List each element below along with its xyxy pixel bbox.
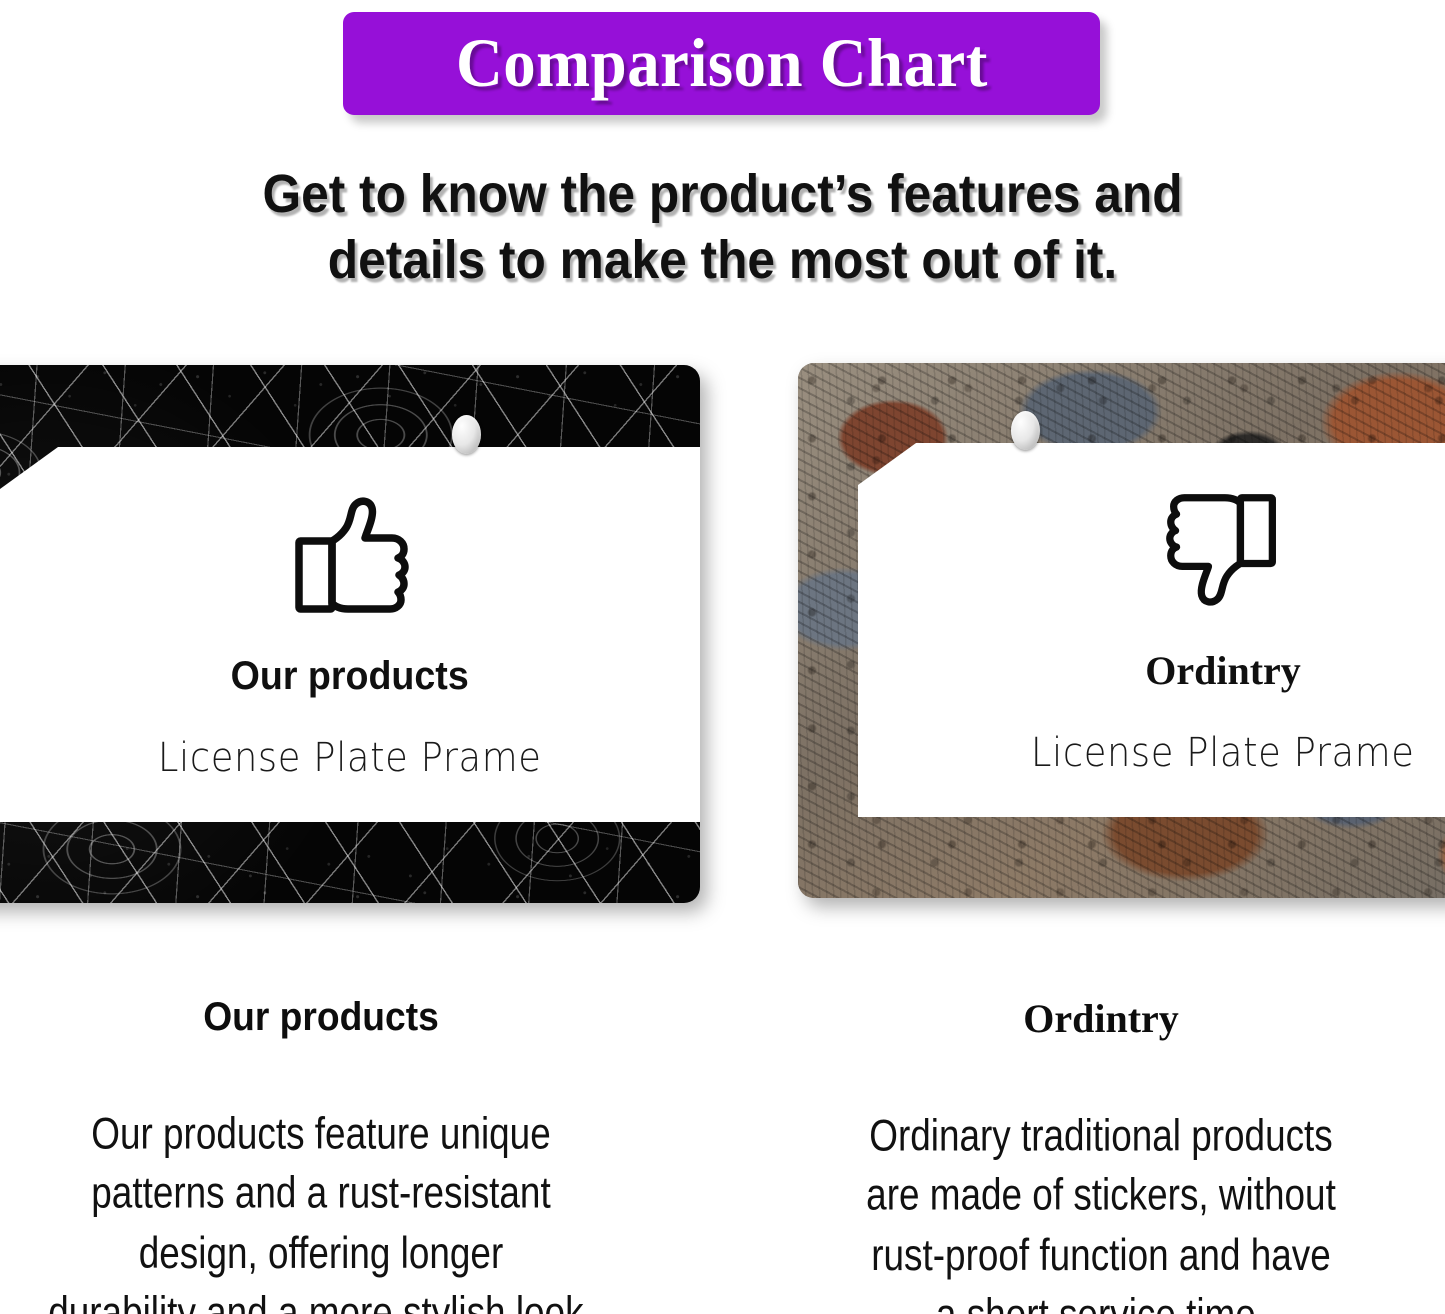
subtitle: Get to know the product’s features and d… xyxy=(58,162,1387,294)
frame-subheading-ordinary: License Plate Prame xyxy=(1031,729,1415,776)
comparison-chart-page: Comparison Chart Get to know the product… xyxy=(0,0,1445,1314)
body-line: rust-proof function and have xyxy=(776,1226,1426,1286)
body-line: are made of stickers, without xyxy=(776,1166,1426,1226)
title-banner: Comparison Chart xyxy=(343,12,1100,115)
thumbs-down-icon xyxy=(1163,490,1283,613)
plate-window-ordinary: Ordintry License Plate Prame xyxy=(858,443,1445,817)
license-plate-frame-ours: Our products License Plate Prame xyxy=(0,365,700,903)
ordinary-product-frame-image: Ordintry License Plate Prame xyxy=(798,363,1445,898)
mounting-hole-ours xyxy=(452,415,481,454)
body-line: patterns and a rust-resistant xyxy=(0,1164,646,1224)
frame-subheading-ours: License Plate Prame xyxy=(158,733,542,780)
subtitle-line-1: Get to know the product’s features and xyxy=(58,162,1387,228)
subtitle-line-2: details to make the most out of it. xyxy=(58,228,1387,294)
license-plate-frame-ordinary: Ordintry License Plate Prame xyxy=(798,363,1445,898)
frame-heading-ours: Our products xyxy=(231,654,469,699)
mounting-hole-ordinary xyxy=(1011,411,1040,450)
body-line: Ordinary traditional products xyxy=(776,1106,1426,1166)
comparison-column-ours: Our products Our products feature unique… xyxy=(0,995,682,1314)
body-line: durability and a more stylish look. xyxy=(0,1283,646,1314)
column-body-ordinary: Ordinary traditional products are made o… xyxy=(776,1106,1426,1314)
comparison-column-ordinary: Ordintry Ordinary traditional products a… xyxy=(740,995,1445,1314)
body-line: design, offering longer xyxy=(0,1224,646,1284)
body-line: Our products feature unique xyxy=(0,1104,646,1164)
page-title: Comparison Chart xyxy=(456,29,988,98)
body-line: a short service time. xyxy=(776,1285,1426,1314)
thumbs-up-icon xyxy=(288,497,412,620)
column-heading-ordinary: Ordintry xyxy=(740,995,1445,1042)
column-heading-ours: Our products xyxy=(0,995,657,1040)
frame-heading-ordinary: Ordintry xyxy=(1145,647,1301,694)
column-body-ours: Our products feature unique patterns and… xyxy=(0,1104,646,1314)
plate-window-ours: Our products License Plate Prame xyxy=(0,447,700,822)
our-product-frame-image: Our products License Plate Prame xyxy=(0,365,700,903)
